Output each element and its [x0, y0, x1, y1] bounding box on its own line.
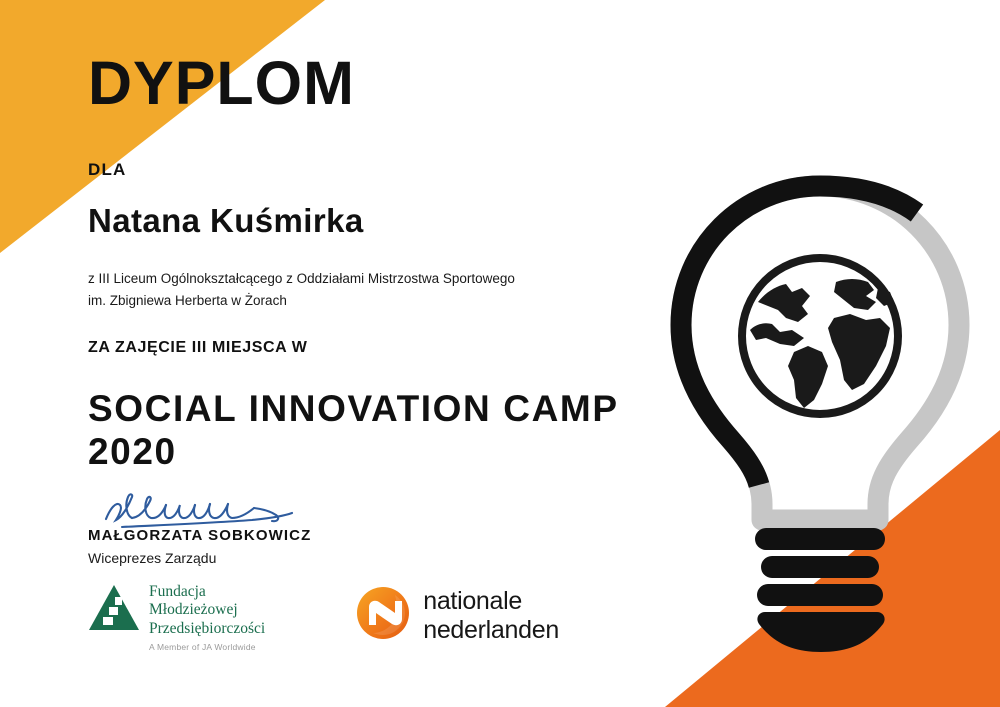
sponsor-name: nationale nederlanden	[423, 587, 559, 644]
lightbulb-with-globe-illustration	[655, 168, 985, 668]
green-triangle-icon	[88, 583, 140, 638]
school-line-1: z III Liceum Ogólnokształcącego z Oddzia…	[88, 268, 648, 290]
sponsor-line-2: nederlanden	[423, 616, 559, 645]
signature-block: MAŁGORZATA SOBKOWICZ Wiceprezes Zarządu	[88, 487, 388, 566]
event-year: 2020	[88, 430, 648, 474]
signer-role: Wiceprezes Zarządu	[88, 550, 388, 566]
signer-name: MAŁGORZATA SOBKOWICZ	[88, 527, 388, 544]
sponsor-line-1: nationale	[423, 587, 559, 616]
handwritten-signature-icon	[102, 487, 388, 531]
foundation-name: Fundacja Młodzieżowej Przedsiębiorczości…	[149, 583, 265, 652]
foundation-line-3: Przedsiębiorczości	[149, 620, 265, 638]
recipient-school: z III Liceum Ogólnokształcącego z Oddzia…	[88, 268, 648, 313]
for-label: DLA	[88, 160, 648, 180]
foundation-line-1: Fundacja	[149, 583, 265, 601]
event-name: SOCIAL INNOVATION CAMP	[88, 388, 619, 429]
certificate-body: DYPLOM DLA Natana Kuśmirka z III Liceum …	[88, 52, 648, 474]
recipient-name: Natana Kuśmirka	[88, 202, 648, 240]
event-title: SOCIAL INNOVATION CAMP 2020	[88, 387, 648, 474]
foundation-line-2: Młodzieżowej	[149, 601, 265, 619]
foundation-logo: Fundacja Młodzieżowej Przedsiębiorczości…	[88, 583, 265, 652]
nn-circle-icon	[355, 585, 411, 646]
page-title: DYPLOM	[88, 52, 648, 114]
foundation-tagline: A Member of JA Worldwide	[149, 642, 265, 652]
school-line-2: im. Zbigniewa Herberta w Żorach	[88, 290, 648, 312]
certificate-page: DYPLOM DLA Natana Kuśmirka z III Liceum …	[0, 0, 1000, 707]
sponsor-logo: nationale nederlanden	[355, 585, 559, 646]
logo-row: Fundacja Młodzieżowej Przedsiębiorczości…	[88, 583, 559, 652]
placement-text: ZA ZAJĘCIE III MIEJSCA W	[88, 339, 648, 357]
